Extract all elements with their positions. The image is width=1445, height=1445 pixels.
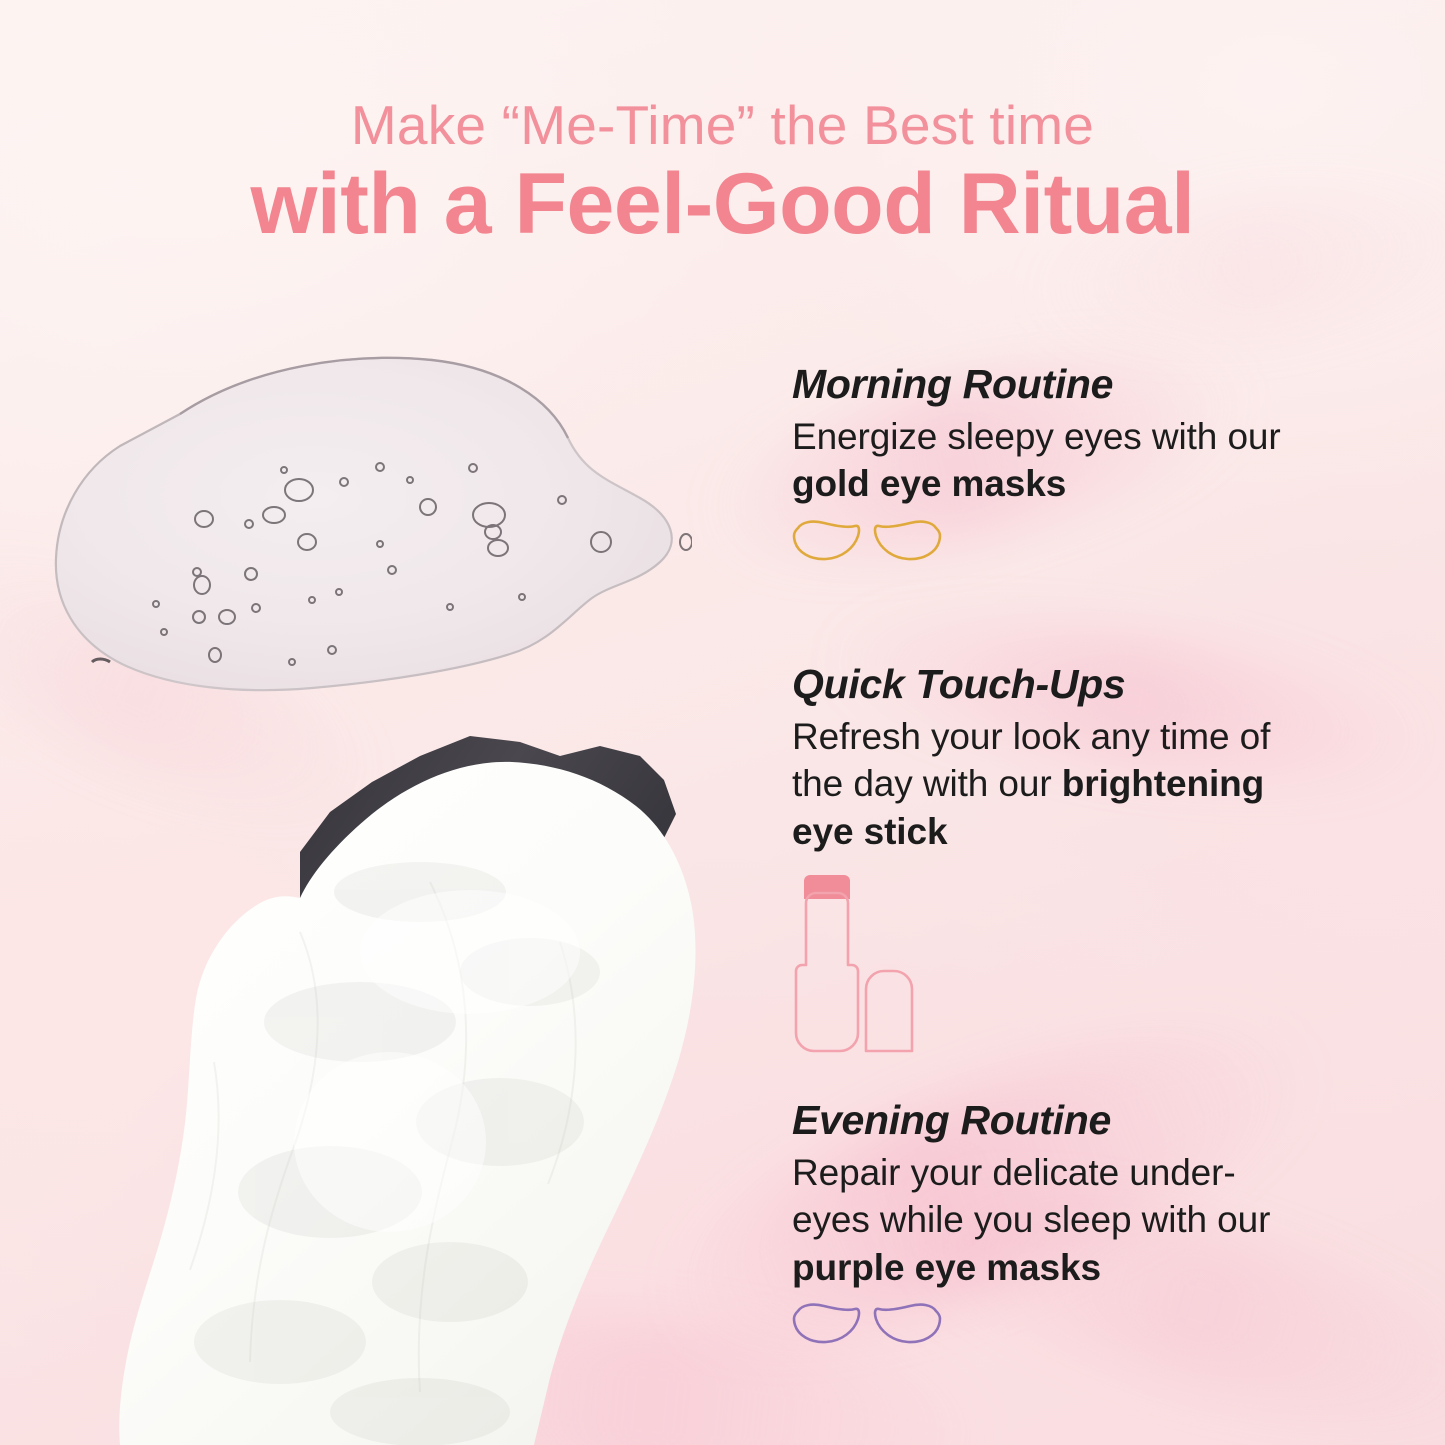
headline-line-2: with a Feel-Good Ritual: [0, 156, 1445, 252]
block-body-highlight: purple eye masks: [792, 1247, 1101, 1288]
block-quick-touch-ups: Quick Touch-Ups Refresh your look any ti…: [792, 662, 1312, 1071]
block-title: Morning Routine: [792, 362, 1312, 407]
gel-swatch-image: [52, 352, 692, 724]
block-body-text: Repair your delicate under-eyes while yo…: [792, 1152, 1270, 1240]
block-title: Quick Touch-Ups: [792, 662, 1312, 707]
purple-eye-masks-icon: [792, 1301, 1312, 1345]
block-evening-routine: Evening Routine Repair your delicate und…: [792, 1098, 1312, 1345]
headline: Make “Me-Time” the Best time with a Feel…: [0, 96, 1445, 253]
block-morning-routine: Morning Routine Energize sleepy eyes wit…: [792, 362, 1312, 562]
headline-line-1: Make “Me-Time” the Best time: [0, 96, 1445, 154]
infographic-canvas: Make “Me-Time” the Best time with a Feel…: [0, 0, 1445, 1445]
cream-swatch-image: [0, 722, 760, 1445]
block-title: Evening Routine: [792, 1098, 1312, 1143]
gold-eye-masks-icon: [792, 518, 1312, 562]
eye-stick-icon: [792, 871, 1312, 1071]
block-body-text: Energize sleepy eyes with our: [792, 416, 1281, 457]
block-body: Refresh your look any time of the day wi…: [792, 713, 1312, 855]
block-body: Repair your delicate under-eyes while yo…: [792, 1149, 1312, 1291]
block-body-highlight: gold eye masks: [792, 463, 1066, 504]
block-body: Energize sleepy eyes with our gold eye m…: [792, 413, 1312, 508]
